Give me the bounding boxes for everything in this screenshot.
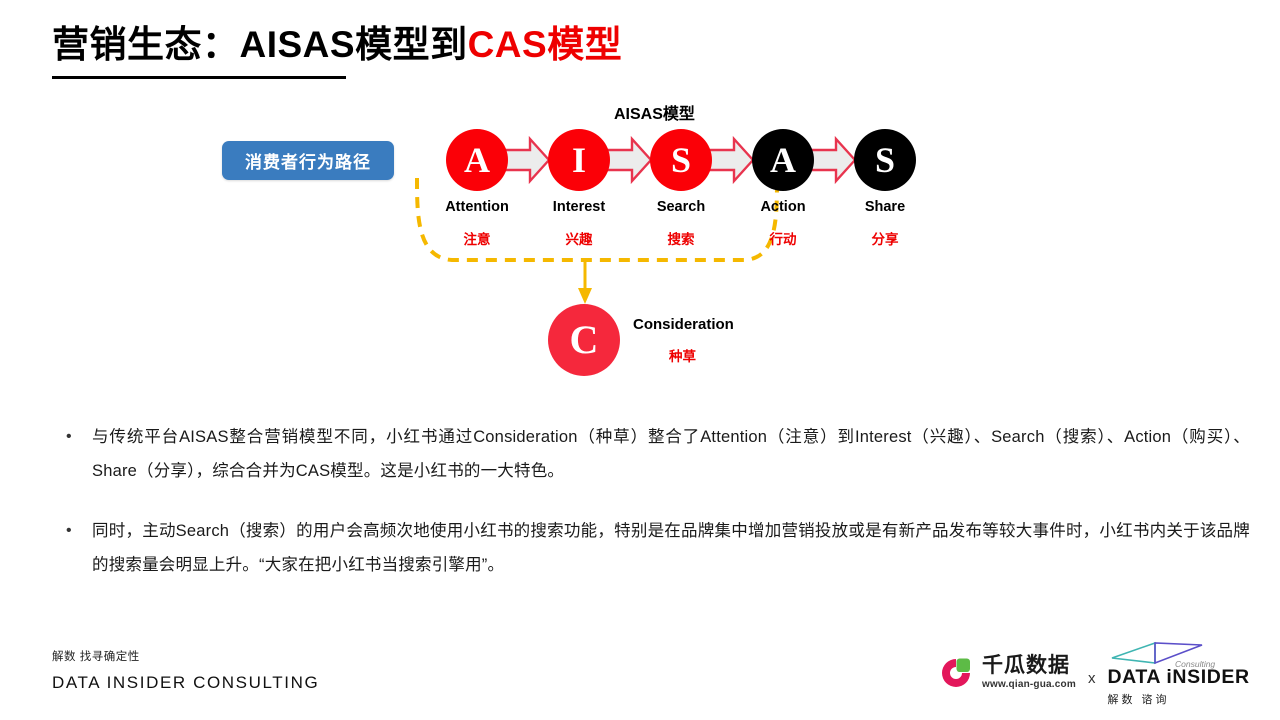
footer-tagline-cn: 解数 找寻确定性 [52,648,319,664]
label-cn-consideration: 种草 [669,345,696,365]
logo-cross-separator: x [1088,660,1096,687]
label-cn-interest: 兴趣 [566,228,593,248]
bullet-text-1: 与传统平台AISAS整合营销模型不同，小红书通过Consideration（种草… [92,420,1250,488]
chevron-arrow-3 [708,136,754,184]
label-en-consideration: Consideration [633,316,734,333]
label-cn-search: 搜索 [668,228,695,248]
label-en-share: Share [865,199,905,215]
label-en-attention: Attention [445,199,509,215]
footer-brand-left: 解数 找寻确定性 DATA INSIDER CONSULTING [52,648,319,693]
node-interest: I [548,129,610,191]
label-cn-action: 行动 [770,228,797,248]
footer-logos: 千瓜数据 www.qian-gua.com x DATA iNSIDER 解数 … [936,640,1250,706]
data-insider-logo: DATA iNSIDER 解数 谘询 [1107,640,1249,707]
node-attention: A [446,129,508,191]
consumer-path-badge: 消费者行为路径 [222,141,394,180]
chevron-arrow-1 [504,136,550,184]
label-en-action: Action [760,199,805,215]
bullet-marker-2: • [60,514,92,548]
footer-company-en: DATA INSIDER CONSULTING [52,673,319,693]
node-share: S [854,129,916,191]
bullet-text-2: 同时，主动Search（搜索）的用户会高频次地使用小红书的搜索功能，特别是在品牌… [92,514,1250,582]
aisas-diagram: AISAS模型 消费者行为路径 A I S A S Attention Inte… [0,0,1280,400]
node-consideration: C [548,304,620,376]
qiangua-name: 千瓜数据 [982,654,1076,678]
label-en-search: Search [657,199,705,215]
label-en-interest: Interest [553,199,605,215]
bullet-item-2: • 同时，主动Search（搜索）的用户会高频次地使用小红书的搜索功能，特别是在… [60,514,1250,582]
data-insider-consulting-label: Consulting [1175,659,1215,669]
body-text: • 与传统平台AISAS整合营销模型不同，小红书通过Consideration（… [60,420,1250,608]
consideration-bracket [0,0,1280,400]
label-cn-attention: 注意 [464,228,491,248]
bullet-item-1: • 与传统平台AISAS整合营销模型不同，小红书通过Consideration（… [60,420,1250,488]
qiangua-url: www.qian-gua.com [982,678,1076,692]
chevron-arrow-4 [810,136,856,184]
bullet-marker-1: • [60,420,92,454]
node-search: S [650,129,712,191]
qiangua-text-block: 千瓜数据 www.qian-gua.com [982,654,1076,692]
qiangua-logo: 千瓜数据 www.qian-gua.com [936,653,1076,693]
aisas-model-caption: AISAS模型 [614,100,695,124]
label-cn-share: 分享 [872,228,899,248]
data-insider-cn: 解数 谘询 [1107,691,1169,707]
node-action: A [752,129,814,191]
chevron-arrow-2 [606,136,652,184]
qiangua-mark-icon [936,653,976,693]
